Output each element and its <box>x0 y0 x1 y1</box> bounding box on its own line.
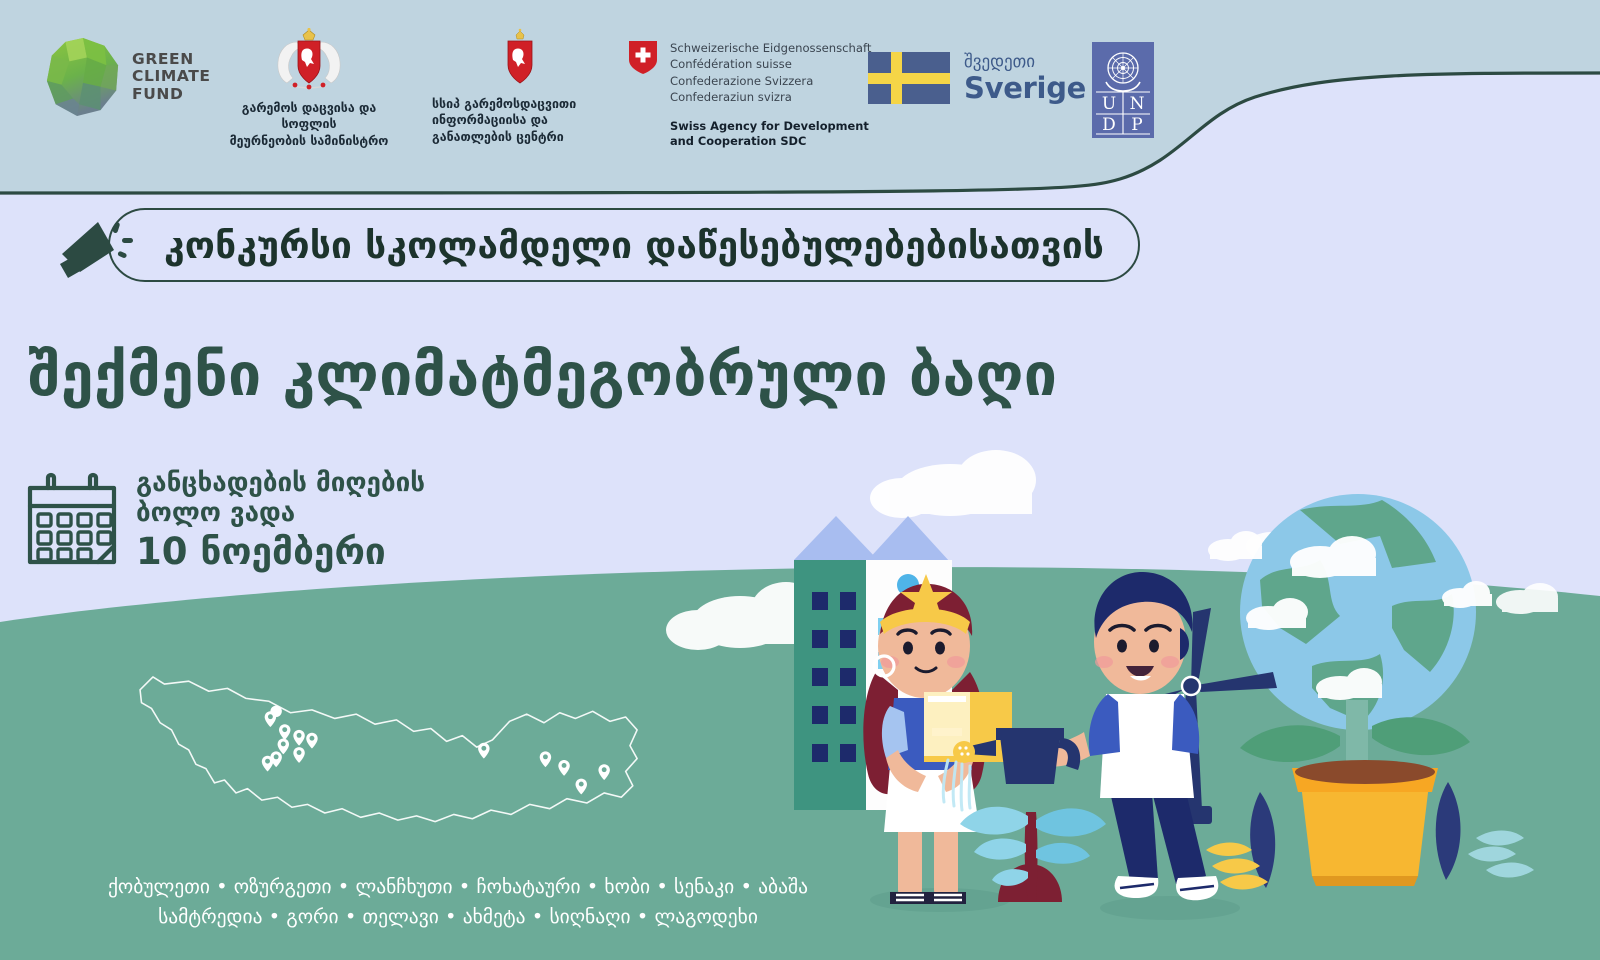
poster-canvas: GREEN CLIMATE FUND <box>0 0 1600 960</box>
logo-row: GREEN CLIMATE FUND <box>0 0 1600 190</box>
ministry-label: გარემოს დაცვისა და სოფლის მეურნეობის სამ… <box>214 100 404 149</box>
svg-text:U: U <box>1102 94 1116 114</box>
swedish-flag-icon <box>868 52 950 104</box>
svg-text:N: N <box>1130 94 1145 114</box>
deadline-label-line1: განცხადების მიღების <box>136 468 425 498</box>
eiec-label: სსიპ გარემოსდაცვითი ინფორმაციისა და განა… <box>432 96 607 145</box>
sweden-name-georgian: შვედეთი <box>964 54 1086 71</box>
scene-illustration <box>640 440 1600 960</box>
megaphone-icon <box>52 210 144 288</box>
page-title: შექმენი კლიმატმეგობრული ბაღი <box>28 340 1057 409</box>
georgia-shield-icon <box>499 28 541 88</box>
logo-sweden: შვედეთი Sverige <box>868 52 1086 104</box>
faceted-sphere-icon <box>44 36 122 118</box>
deadline-label-line2: ბოლო ვადა <box>136 498 425 528</box>
svg-text:D: D <box>1102 115 1116 135</box>
logo-ministry-of-environment: გარემოს დაცვისა და სოფლის მეურნეობის სამ… <box>214 28 404 149</box>
logo-environmental-information-center: სსიპ გარემოსდაცვითი ინფორმაციისა და განა… <box>432 28 607 145</box>
sweden-name-latin: Sverige <box>964 74 1086 103</box>
seedling-icon <box>960 807 1106 902</box>
map-pins <box>262 706 610 795</box>
svg-text:P: P <box>1131 115 1142 135</box>
georgia-coat-of-arms-icon <box>267 28 351 94</box>
swiss-wordmark: Schweizerische Eidgenossenschaft Confédé… <box>670 40 871 149</box>
un-emblem-icon: U N D P <box>1092 42 1154 138</box>
announcement-pill: კონკურსი სკოლამდელი დაწესებულებებისათვის <box>108 208 1140 282</box>
deadline-date: 10 ნოემბერი <box>136 532 425 573</box>
logo-swiss-sdc: Schweizerische Eidgenossenschaft Confédé… <box>628 40 871 149</box>
calendar-icon <box>24 470 120 568</box>
logo-green-climate-fund: GREEN CLIMATE FUND <box>44 36 211 118</box>
globe-plant-icon <box>1206 494 1534 890</box>
sweden-wordmark: შვედეთი Sverige <box>964 54 1086 103</box>
gcf-wordmark: GREEN CLIMATE FUND <box>132 51 211 104</box>
logo-undp: U N D P <box>1092 42 1154 138</box>
deadline-block: განცხადების მიღების ბოლო ვადა 10 ნოემბერ… <box>24 468 425 573</box>
georgia-map <box>120 640 650 880</box>
apartment-building-icon <box>794 560 866 810</box>
announcement-text: კონკურსი სკოლამდელი დაწესებულებებისათვის <box>164 224 1104 267</box>
swiss-shield-icon <box>628 40 658 75</box>
